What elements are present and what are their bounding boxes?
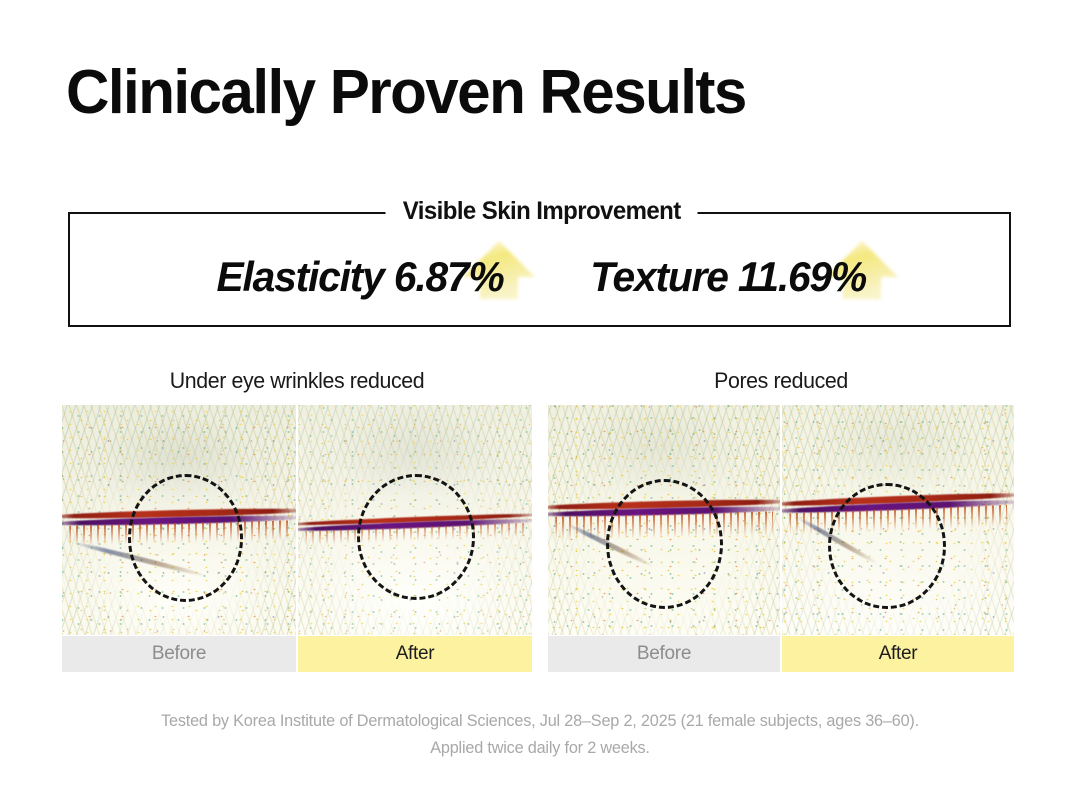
- study-disclaimer-line-2: Applied twice daily for 2 weeks.: [8, 735, 1072, 762]
- image-pair: [62, 405, 532, 635]
- study-disclaimer: Tested by Korea Institute of Dermatologi…: [0, 708, 1080, 761]
- study-disclaimer-line-1: Tested by Korea Institute of Dermatologi…: [8, 708, 1072, 735]
- stat-texture-label: Texture 11.69%: [591, 253, 867, 301]
- stat-elasticity-label: Elasticity 6.87%: [217, 253, 504, 301]
- skin-micrograph-before: [62, 405, 296, 635]
- skin-micrograph-before: [548, 405, 780, 635]
- caption-before: Before: [62, 636, 296, 672]
- comparison-group-title: Pores reduced: [555, 368, 1007, 394]
- stat-elasticity: Elasticity 6.87%: [212, 253, 508, 301]
- caption-after: After: [782, 636, 1014, 672]
- comparison-group-pores: Pores reduced: [548, 368, 1014, 672]
- visible-skin-improvement-box: Elasticity 6.87% Texture 11.69% Visible …: [68, 212, 1011, 327]
- caption-bar: Before After: [62, 636, 532, 672]
- caption-after: After: [298, 636, 532, 672]
- stats-row: Elasticity 6.87% Texture 11.69%: [70, 214, 1013, 325]
- comparison-group-under-eye-wrinkles: Under eye wrinkles reduced: [62, 368, 532, 672]
- image-pair: [548, 405, 1014, 635]
- skin-micrograph-after: [782, 405, 1014, 635]
- caption-bar: Before After: [548, 636, 1014, 672]
- stat-texture: Texture 11.69%: [586, 253, 870, 301]
- page-title: Clinically Proven Results: [66, 62, 746, 124]
- skin-micrograph-after: [298, 405, 532, 635]
- caption-before: Before: [548, 636, 780, 672]
- comparison-group-title: Under eye wrinkles reduced: [69, 368, 525, 394]
